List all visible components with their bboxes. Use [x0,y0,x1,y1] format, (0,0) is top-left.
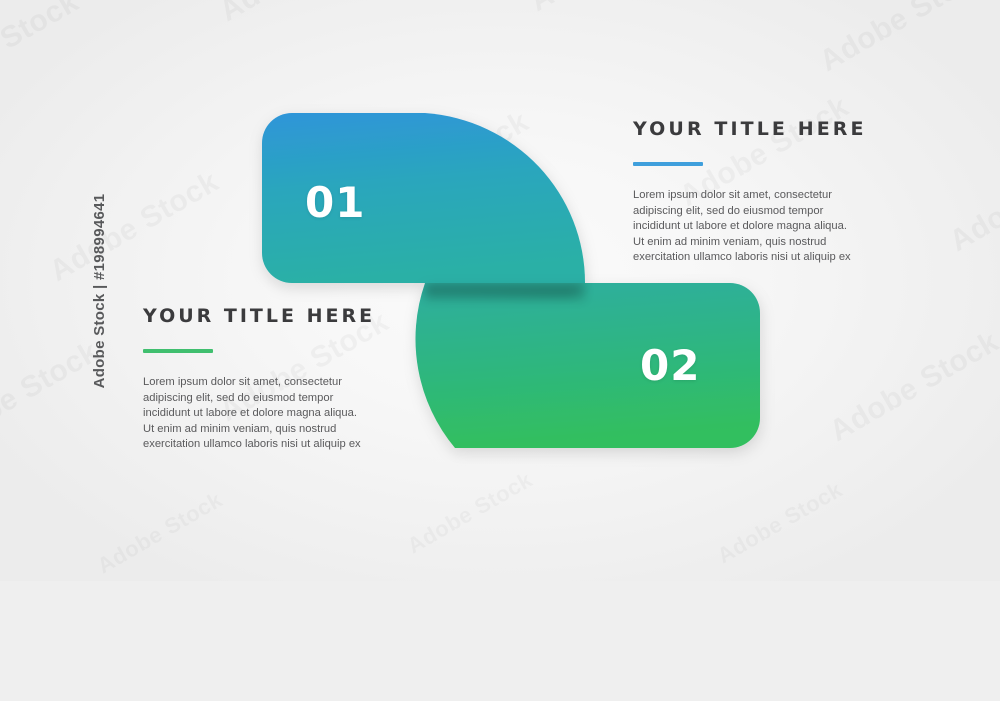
body-line: exercitation ullamco laboris nisi ut ali… [633,250,871,266]
step-01-shape[interactable] [0,0,1000,581]
step-01-number: 01 [305,182,365,224]
overlap-shadow [425,283,588,300]
step-01-accent-bar [633,162,703,166]
body-line: adipiscing elit, sed do eiusmod tempor [633,204,871,220]
body-line: Ut enim ad minim veniam, quis nostrud [143,422,381,438]
body-line: Lorem ipsum dolor sit amet, consectetur [633,188,871,204]
step-02-accent-bar [143,349,213,353]
body-line: Lorem ipsum dolor sit amet, consectetur [143,375,381,391]
body-line: exercitation ullamco laboris nisi ut ali… [143,437,381,453]
step-02-number: 02 [640,345,700,387]
step-02-text-block: YOUR TITLE HERE Lorem ipsum dolor sit am… [143,305,393,453]
body-line: Ut enim ad minim veniam, quis nostrud [633,235,871,251]
body-line: incididunt ut labore et dolore magna ali… [143,406,381,422]
infographic-canvas: Adobe Stock Adobe Stock Adobe Stock Adob… [0,0,1000,581]
step-01-text-block: YOUR TITLE HERE Lorem ipsum dolor sit am… [633,118,883,266]
step-02-title: YOUR TITLE HERE [143,305,393,327]
step-01-title: YOUR TITLE HERE [633,118,883,140]
step-02-leaf [415,283,760,448]
body-line: adipiscing elit, sed do eiusmod tempor [143,391,381,407]
step-01-body: Lorem ipsum dolor sit amet, consectetur … [633,188,871,266]
body-line: incididunt ut labore et dolore magna ali… [633,219,871,235]
step-02-body: Lorem ipsum dolor sit amet, consectetur … [143,375,381,453]
